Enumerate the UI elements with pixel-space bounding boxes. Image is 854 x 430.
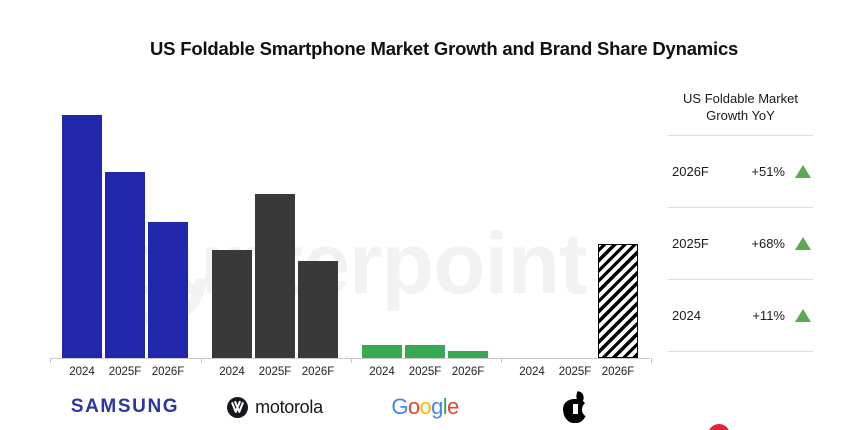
- x-axis-label: 2024: [362, 366, 402, 378]
- row-year: 2024: [672, 308, 701, 323]
- axis-tick: [201, 358, 202, 363]
- bar-apple-2026f: [598, 244, 638, 358]
- page-title: US Foldable Smartphone Market Growth and…: [150, 38, 738, 60]
- x-axis-label: 2026F: [598, 366, 638, 378]
- x-axis-label: 2025F: [555, 366, 595, 378]
- bar-google-2025f: [405, 345, 445, 358]
- axis-tick: [651, 358, 652, 363]
- x-axis-label: 2026F: [448, 366, 488, 378]
- bar-samsung-2026f: [148, 222, 188, 358]
- axis-tick: [50, 358, 51, 363]
- trend-up-icon: [795, 237, 811, 250]
- x-axis-label: 2024: [62, 366, 102, 378]
- axis-tick: [351, 358, 352, 363]
- yoy-header-line-1: US Foldable Market: [668, 90, 813, 107]
- row-year: 2026F: [672, 164, 709, 179]
- bar-samsung-2025f: [105, 172, 145, 358]
- row-year: 2025F: [672, 236, 709, 251]
- trend-up-icon: [795, 165, 811, 178]
- bar-motorola-2024: [212, 250, 252, 358]
- row-value: +11%: [752, 308, 785, 323]
- table-divider: [668, 351, 813, 352]
- x-axis-label: 2026F: [148, 366, 188, 378]
- bar-motorola-2026f: [298, 261, 338, 358]
- x-axis-label: 2024: [212, 366, 252, 378]
- axis-tick: [501, 358, 502, 363]
- row-value: +68%: [751, 236, 785, 251]
- x-axis-label: 2026F: [298, 366, 338, 378]
- x-axis-label: 2024: [512, 366, 552, 378]
- bar-samsung-2024: [62, 115, 102, 358]
- bar-google-2026f: [448, 351, 488, 358]
- plot-area: 20242025F2026F20242025F2026F20242025F202…: [0, 0, 660, 430]
- yoy-table-header: US Foldable Market Growth YoY: [668, 90, 813, 135]
- row-value: +51%: [751, 164, 785, 179]
- x-axis-label: 2025F: [405, 366, 445, 378]
- bar-motorola-2025f: [255, 194, 295, 358]
- x-axis-line: [50, 358, 650, 359]
- table-row: 2026F +51%: [668, 136, 813, 207]
- chart-canvas: ounterpoint US Foldable Smartphone Marke…: [0, 0, 854, 430]
- x-axis-label: 2025F: [105, 366, 145, 378]
- partial-logo-mark: [708, 424, 730, 430]
- trend-up-icon: [795, 309, 811, 322]
- yoy-header-line-2: Growth YoY: [668, 107, 813, 124]
- bar-google-2024: [362, 345, 402, 358]
- table-row: 2024 +11%: [668, 280, 813, 351]
- x-axis-label: 2025F: [255, 366, 295, 378]
- yoy-growth-table: US Foldable Market Growth YoY 2026F +51%…: [668, 90, 813, 352]
- table-row: 2025F +68%: [668, 208, 813, 279]
